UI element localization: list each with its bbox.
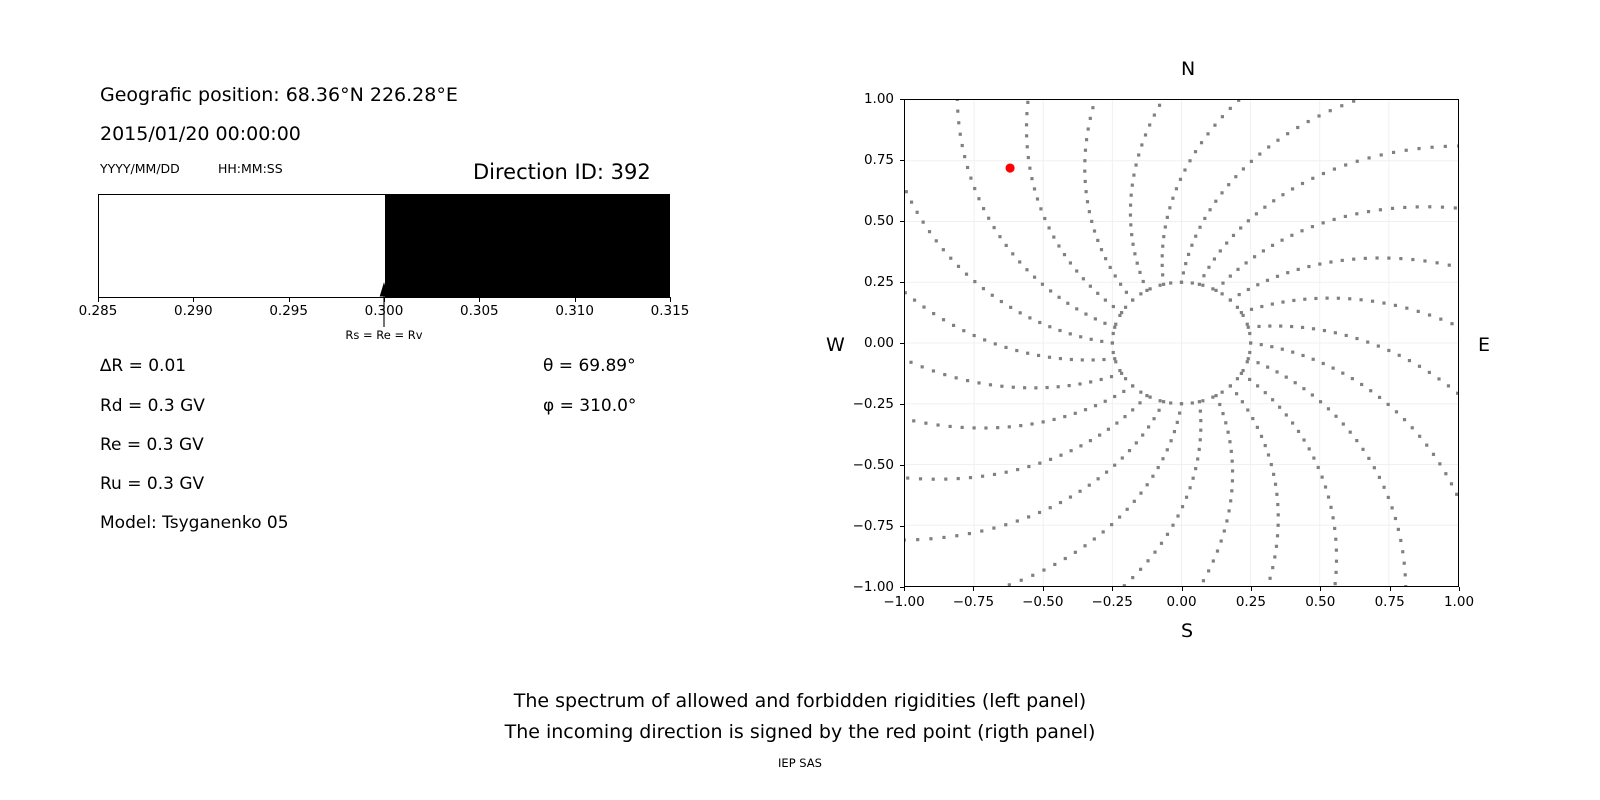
y-tickmark	[900, 465, 904, 466]
x-tick-label: 1.00	[1444, 594, 1474, 610]
y-tickmark	[900, 526, 904, 527]
spectrum-bar	[98, 194, 670, 298]
y-tick-label: 0.00	[842, 335, 894, 351]
date-format-hint: YYYY/MM/DD	[100, 161, 180, 176]
param-rd: Rd = 0.3 GV	[100, 396, 205, 416]
datetime-label: 2015/01/20 00:00:00	[100, 123, 301, 145]
compass-label-east: E	[1478, 334, 1490, 356]
y-tickmark	[900, 221, 904, 222]
x-tick-label: 0.25	[1236, 594, 1266, 610]
x-tick-label: 0.50	[1305, 594, 1335, 610]
y-tick-label: −0.75	[842, 518, 894, 534]
spectrum-tick	[670, 297, 671, 302]
x-tick-label: 0.00	[1166, 594, 1196, 610]
time-format-hint: HH:MM:SS	[218, 161, 283, 176]
spectrum-tick-label: 0.300	[365, 303, 404, 319]
x-tickmark	[904, 587, 905, 591]
caption-line-2: The incoming direction is signed by the …	[0, 717, 1600, 748]
spectrum-tick-label: 0.290	[174, 303, 213, 319]
spectrum-allowed-region	[99, 195, 385, 297]
spectrum-tick	[193, 297, 194, 302]
y-tickmark	[900, 343, 904, 344]
x-tickmark	[1390, 587, 1391, 591]
left-panel: Geografic position: 68.36°N 226.28°E 201…	[0, 0, 760, 640]
direction-id-label: Direction ID: 392	[473, 160, 651, 184]
x-tickmark	[1112, 587, 1113, 591]
spectrum-tick-label: 0.305	[460, 303, 499, 319]
selected-direction-marker	[1005, 163, 1014, 172]
x-tickmark	[973, 587, 974, 591]
param-delta-r: ∆R = 0.01	[100, 356, 186, 376]
spectrum-tick	[384, 297, 385, 302]
spectrum-tick	[289, 297, 290, 302]
y-tickmark	[900, 404, 904, 405]
x-tick-label: 0.75	[1375, 594, 1405, 610]
x-tickmark	[1182, 587, 1183, 591]
x-tick-label: −0.25	[1091, 594, 1132, 610]
spectrum-tick-label: 0.295	[269, 303, 308, 319]
caption: The spectrum of allowed and forbidden ri…	[0, 686, 1600, 748]
compass-label-north: N	[1181, 58, 1195, 80]
x-tickmark	[1320, 587, 1321, 591]
y-tick-label: 0.75	[842, 152, 894, 168]
spectrum-forbidden-region	[385, 195, 669, 297]
scatter-plot-area	[904, 99, 1459, 587]
scatter-plot-svg	[905, 100, 1458, 586]
x-tickmark	[1251, 587, 1252, 591]
param-phi: φ = 310.0°	[543, 396, 636, 416]
caption-line-1: The spectrum of allowed and forbidden ri…	[0, 686, 1600, 717]
plot-gridlines	[905, 100, 1458, 586]
y-tick-label: −1.00	[842, 579, 894, 595]
y-tick-label: 1.00	[842, 91, 894, 107]
spectrum-x-axis: 0.2850.2900.2950.3000.3050.3100.315	[98, 297, 670, 347]
spectrum-tick-label: 0.315	[651, 303, 690, 319]
spectrum-tick	[479, 297, 480, 302]
param-ru: Ru = 0.3 GV	[100, 474, 204, 494]
y-tick-label: −0.25	[842, 396, 894, 412]
y-tickmark	[900, 587, 904, 588]
y-tickmark	[900, 282, 904, 283]
spectrum-tick-label: 0.285	[79, 303, 118, 319]
param-theta: θ = 69.89°	[543, 356, 636, 376]
param-model: Model: Tsyganenko 05	[100, 513, 289, 533]
param-re: Re = 0.3 GV	[100, 435, 204, 455]
x-tickmark	[1459, 587, 1460, 591]
y-tick-label: 0.25	[842, 274, 894, 290]
spectrum-tick	[575, 297, 576, 302]
direction-scatter-panel: N S W E −1.00−0.75−0.50−0.250.000.250.50…	[800, 0, 1600, 660]
y-tickmark	[900, 99, 904, 100]
footer-label: IEP SAS	[0, 756, 1600, 770]
x-tick-label: −0.75	[953, 594, 994, 610]
spectrum-tick-label: 0.310	[555, 303, 594, 319]
spectrum-tick	[98, 297, 99, 302]
rigidity-spectrum-chart	[98, 194, 670, 298]
x-tick-label: −0.50	[1022, 594, 1063, 610]
y-tick-label: 0.50	[842, 213, 894, 229]
x-tickmark	[1043, 587, 1044, 591]
geographic-position-label: Geografic position: 68.36°N 226.28°E	[100, 84, 458, 106]
x-tick-label: −1.00	[883, 594, 924, 610]
y-tick-label: −0.50	[842, 457, 894, 473]
y-tickmark	[900, 160, 904, 161]
compass-label-south: S	[1181, 620, 1193, 642]
